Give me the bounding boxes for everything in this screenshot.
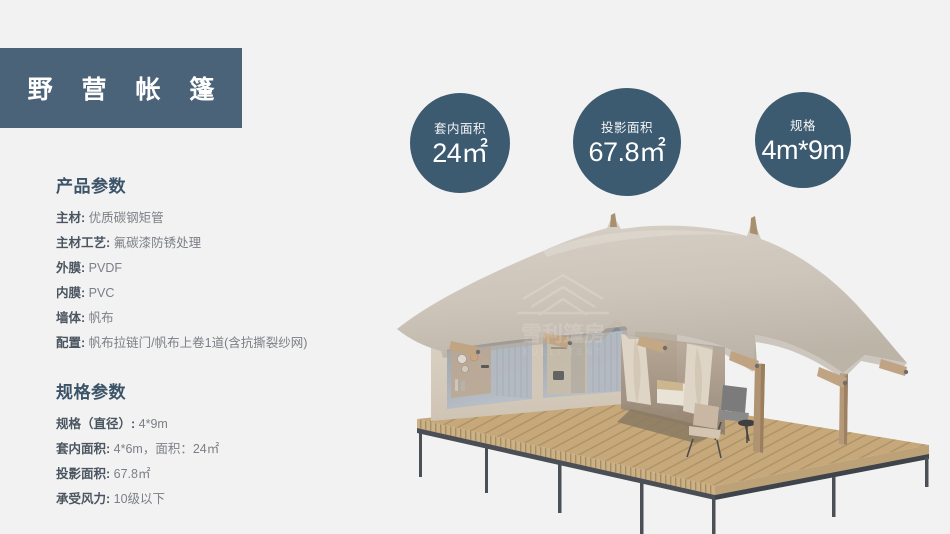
decor-plate	[458, 355, 467, 364]
spec-row: 投影面积: 67.8㎡	[56, 462, 386, 487]
chair-back	[721, 385, 747, 413]
spec-label: 主材:	[56, 211, 85, 225]
deck-leg	[925, 457, 929, 487]
spec-label: 套内面积:	[56, 442, 110, 456]
deck-leg	[419, 431, 422, 477]
stat-circle-specification: 规格 4m*9m	[755, 92, 851, 188]
specifications-panel: 产品参数 主材: 优质碳钢矩管 主材工艺: 氟碳漆防锈处理 外膜: PVDF 内…	[56, 172, 386, 534]
section-heading: 规格参数	[56, 378, 386, 403]
spec-label: 承受风力:	[56, 492, 110, 506]
spec-row: 规格（直径）: 4*9m	[56, 412, 386, 437]
spec-label: 外膜:	[56, 261, 85, 275]
section-heading: 产品参数	[56, 172, 386, 197]
spec-row: 套内面积: 4*6m，面积：24㎡	[56, 437, 386, 462]
section-specification-parameters: 规格参数 规格（直径）: 4*9m 套内面积: 4*6m，面积：24㎡ 投影面积…	[56, 378, 386, 512]
spec-value: 帆布拉链门/帆布上卷1道(含抗撕裂纱网)	[89, 336, 308, 350]
section-product-parameters: 产品参数 主材: 优质碳钢矩管 主材工艺: 氟碳漆防锈处理 外膜: PVDF 内…	[56, 172, 386, 356]
spec-row: 承受风力: 10级以下	[56, 487, 386, 512]
stat-value: 67.8㎡	[588, 138, 665, 166]
deck-leg	[712, 498, 716, 534]
chair-back	[693, 403, 719, 429]
spec-row: 主材工艺: 氟碳漆防锈处理	[56, 231, 386, 256]
spec-label: 配置:	[56, 336, 85, 350]
stat-label: 投影面积	[601, 117, 653, 136]
arm-fitting	[663, 346, 667, 350]
decor-vase	[461, 381, 465, 391]
arm-fitting	[904, 370, 908, 374]
arm-fitting	[755, 364, 759, 368]
spec-label: 投影面积:	[56, 467, 110, 481]
canopy-peak-cap	[750, 216, 758, 235]
decor-vase	[455, 379, 458, 391]
bathtub	[553, 371, 564, 380]
spec-value: 4*9m	[139, 417, 168, 431]
deck-leg	[485, 446, 488, 493]
spec-row: 内膜: PVC	[56, 281, 386, 306]
spec-label: 墙体:	[56, 311, 85, 325]
spec-value: 10级以下	[114, 492, 165, 506]
page-title: 野 营 帐 篷	[17, 70, 226, 106]
spec-value: 优质碳钢矩管	[89, 211, 164, 225]
side-table	[738, 420, 756, 427]
spec-value: PVDF	[89, 261, 122, 275]
tent-product-image: 雪利篷房 XUELI TENT	[395, 195, 950, 534]
deck-leg	[832, 477, 836, 517]
watermark-en-text: XUELI TENT	[522, 347, 604, 357]
spec-value: 氟碳漆防锈处理	[114, 236, 202, 250]
stat-circle-interior-area: 套内面积 24㎡	[410, 93, 510, 193]
spec-row: 外膜: PVDF	[56, 256, 386, 281]
stat-label: 套内面积	[434, 118, 486, 137]
deck-leg	[640, 481, 644, 534]
watermark-cn-text: 雪利篷房	[521, 322, 605, 346]
spec-label: 主材工艺:	[56, 236, 110, 250]
stat-circle-projected-area: 投影面积 67.8㎡	[573, 88, 681, 196]
decor-shelf	[481, 365, 489, 368]
spec-value: PVC	[89, 286, 115, 300]
product-spec-page: 野 营 帐 篷 产品参数 主材: 优质碳钢矩管 主材工艺: 氟碳漆防锈处理 外膜…	[0, 0, 950, 534]
page-title-block: 野 营 帐 篷	[0, 48, 242, 128]
tent-illustration: 雪利篷房 XUELI TENT	[395, 195, 950, 534]
arm-fitting	[843, 381, 847, 385]
spec-row: 墙体: 帆布	[56, 306, 386, 331]
spec-label: 内膜:	[56, 286, 85, 300]
spec-value: 4*6m，面积：24㎡	[114, 442, 220, 456]
stat-label: 规格	[790, 115, 816, 134]
canopy-peak-cap	[610, 213, 617, 227]
spec-row: 主材: 优质碳钢矩管	[56, 206, 386, 231]
decor-plate	[462, 366, 469, 373]
deck-leg	[558, 463, 562, 513]
arm-fitting	[476, 350, 480, 354]
spec-row: 配置: 帆布拉链门/帆布上卷1道(含抗撕裂纱网)	[56, 331, 386, 356]
stat-value: 24㎡	[432, 139, 488, 167]
spec-value: 67.8㎡	[114, 467, 151, 481]
spec-value: 帆布	[89, 311, 114, 325]
spec-label: 规格（直径）:	[56, 417, 135, 431]
stat-value: 4m*9m	[761, 136, 844, 164]
